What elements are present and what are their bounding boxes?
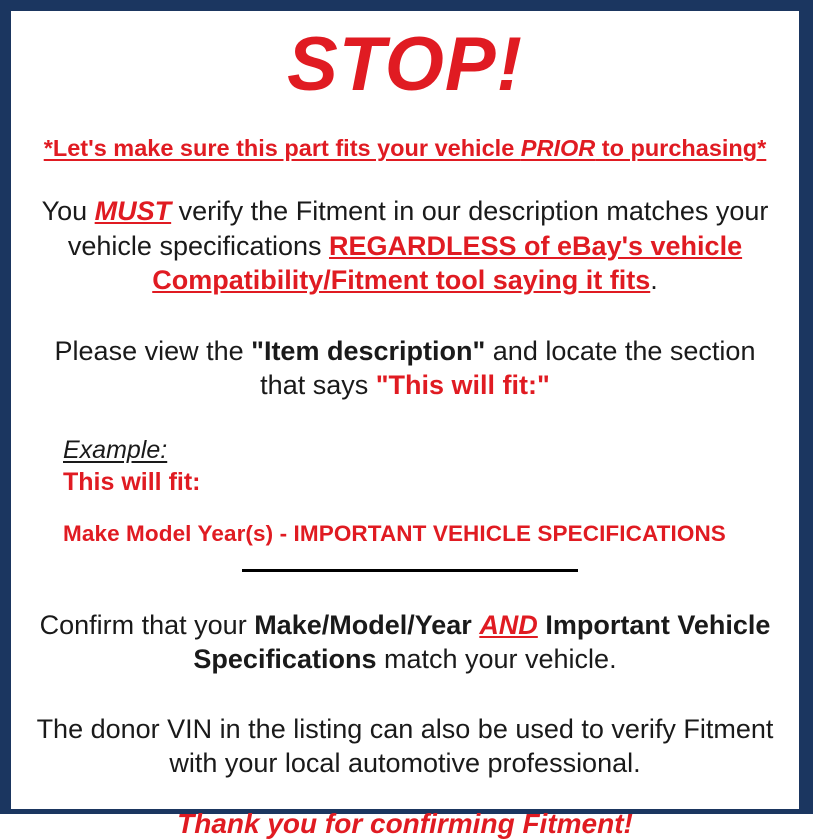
tagline-suffix: to purchasing* <box>595 135 766 161</box>
separator-rule <box>242 569 578 572</box>
paragraph-must-verify: You MUST verify the Fitment in our descr… <box>21 194 789 298</box>
notice-content: STOP! *Let's make sure this part fits yo… <box>11 27 799 809</box>
emphasis-make-model-year: Make/Model/Year <box>254 610 472 640</box>
view-part1: Please view the <box>55 336 252 366</box>
fitment-notice-card: STOP! *Let's make sure this part fits yo… <box>0 0 813 814</box>
tagline-prefix: *Let's make sure this part fits your veh… <box>44 135 521 161</box>
emphasis-this-will-fit: "This will fit:" <box>376 370 550 400</box>
must-part1: You <box>42 196 95 226</box>
example-block: Example: This will fit: Make Model Year(… <box>21 436 789 547</box>
example-spec-line: Make Model Year(s) - IMPORTANT VEHICLE S… <box>63 521 789 547</box>
emphasis-and: AND <box>479 610 538 640</box>
thanks-line: Thank you for confirming Fitment! <box>21 808 789 840</box>
paragraph-item-description: Please view the "Item description" and l… <box>21 334 789 403</box>
must-part3: . <box>650 265 658 295</box>
fitment-tagline: *Let's make sure this part fits your veh… <box>21 134 789 162</box>
tagline-emphasis-prior: PRIOR <box>521 135 595 161</box>
paragraph-donor-vin: The donor VIN in the listing can also be… <box>21 712 789 781</box>
confirm-part4: match your vehicle. <box>376 644 616 674</box>
stop-headline: STOP! <box>21 27 789 103</box>
confirm-part1: Confirm that your <box>40 610 255 640</box>
example-fit-header: This will fit: <box>63 467 789 497</box>
paragraph-confirm: Confirm that your Make/Model/Year AND Im… <box>21 608 789 677</box>
emphasis-must: MUST <box>95 196 172 226</box>
separator-rule-wrapper <box>21 569 789 572</box>
example-label: Example: <box>63 436 789 465</box>
emphasis-item-description: "Item description" <box>251 336 485 366</box>
